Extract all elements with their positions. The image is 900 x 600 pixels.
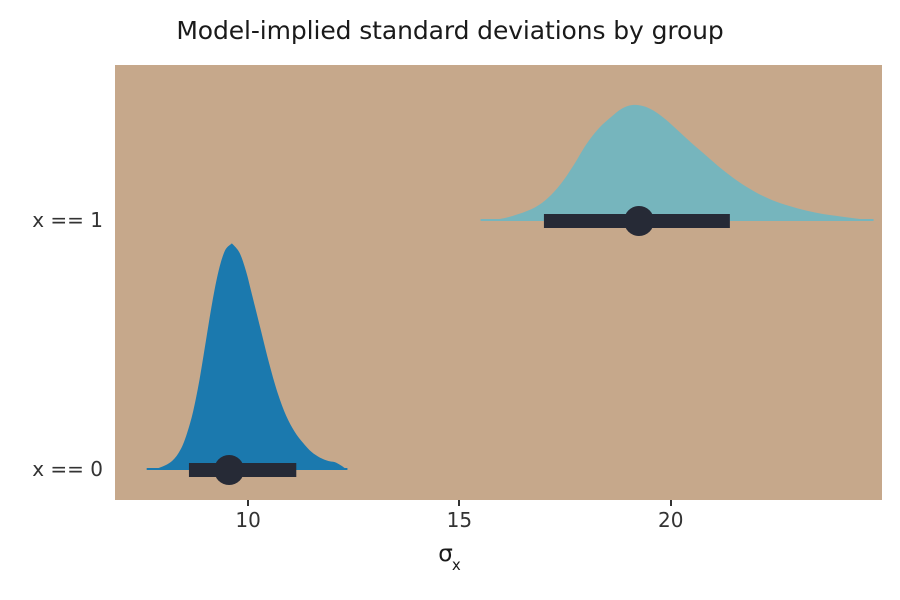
density-group-x1 — [481, 105, 874, 236]
x-axis-tick-label-15: 15 — [429, 508, 489, 532]
x-axis-label-symbol: σ — [438, 541, 453, 567]
x-axis-tick-mark-15 — [458, 500, 460, 506]
density-group-x0 — [147, 243, 348, 485]
density-curve — [147, 243, 348, 470]
chart-figure: Model-implied standard deviations by gro… — [0, 0, 900, 600]
y-axis-tick-label-upper: x == 1 — [0, 208, 103, 232]
x-axis-tick-label-10: 10 — [218, 508, 278, 532]
series-layer — [147, 105, 874, 485]
x-axis-tick-label-20: 20 — [641, 508, 701, 532]
density-ridgeline-svg — [115, 65, 882, 500]
x-axis-label-subscript: x — [452, 556, 461, 574]
point-estimate-dot — [214, 455, 244, 485]
y-axis-tick-label-lower: x == 0 — [0, 457, 103, 481]
x-axis-label: σx — [0, 541, 900, 571]
density-curve — [481, 105, 874, 221]
x-axis-tick-mark-20 — [670, 500, 672, 506]
point-estimate-dot — [624, 206, 654, 236]
plot-area — [115, 65, 882, 500]
x-axis-tick-mark-10 — [247, 500, 249, 506]
chart-title: Model-implied standard deviations by gro… — [0, 16, 900, 45]
